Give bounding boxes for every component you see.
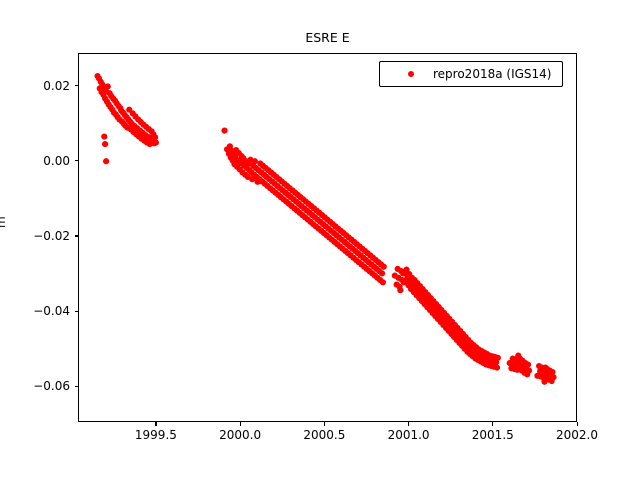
x-axis-tick-label: 1999.5 [116, 429, 196, 441]
y-axis-tick-label: −0.04 [10, 305, 70, 317]
x-axis-tick-label: 2002.0 [537, 429, 617, 441]
x-axis-tick-mark [240, 422, 241, 426]
x-axis-tick-label: 2001.5 [453, 429, 533, 441]
y-axis-label-text: m [0, 216, 8, 228]
y-axis-tick-label: −0.06 [10, 380, 70, 392]
plot-area [78, 53, 577, 422]
x-axis-tick-mark [492, 422, 493, 426]
legend[interactable]: repro2018a (IGS14) [379, 61, 563, 87]
y-axis-tick-label: 0.00 [10, 155, 70, 167]
y-axis-tick-label: −0.02 [10, 230, 70, 242]
page-title: ESRE E [78, 30, 577, 46]
x-axis-tick-label: 2000.0 [200, 429, 280, 441]
legend-dot-icon [408, 71, 414, 77]
x-axis-tick-mark [408, 422, 409, 426]
x-axis-tick-mark [577, 422, 578, 426]
x-axis-tick-label: 2001.0 [369, 429, 449, 441]
x-axis-tick-mark [155, 422, 156, 426]
x-axis-tick-mark [324, 422, 325, 426]
scatter-series-repro2018a [79, 54, 576, 421]
x-axis-tick-label: 2000.5 [284, 429, 364, 441]
y-axis-tick-label: 0.02 [10, 80, 70, 92]
legend-item-label: repro2018a (IGS14) [433, 67, 553, 81]
legend-marker-cell [389, 71, 433, 77]
figure-canvas: ESRE E m 0.020.00−0.02−0.04−0.06 1999.52… [0, 0, 640, 480]
